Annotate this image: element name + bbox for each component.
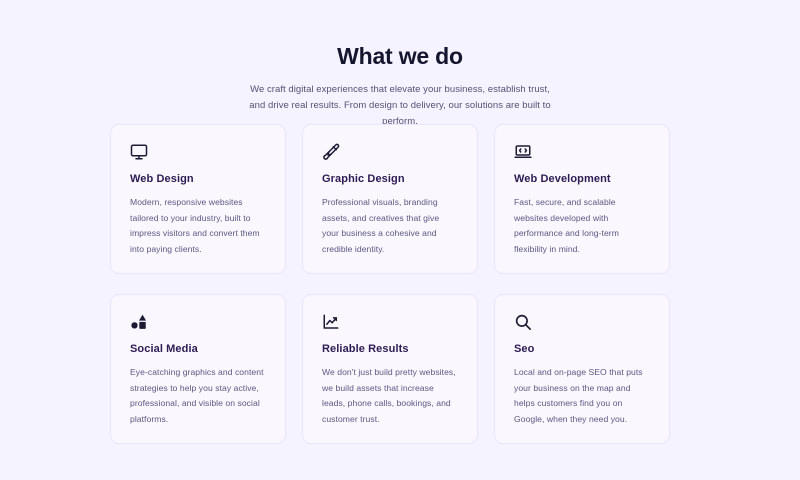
services-grid: Web Design Modern, responsive websites t… <box>110 124 670 444</box>
card-description: Modern, responsive websites tailored to … <box>130 195 266 257</box>
card-title: Social Media <box>130 342 266 356</box>
card-title: Seo <box>514 342 650 356</box>
paintbrush-icon <box>322 143 340 161</box>
laptop-code-icon <box>514 143 532 161</box>
page-title: What we do <box>0 42 800 70</box>
card-description: Fast, secure, and scalable websites deve… <box>514 195 650 257</box>
card-description: Local and on-page SEO that puts your bus… <box>514 365 650 427</box>
card-title: Web Design <box>130 172 266 186</box>
card-title: Graphic Design <box>322 172 458 186</box>
service-card-web-development[interactable]: Web Development Fast, secure, and scalab… <box>494 124 670 274</box>
service-card-reliable-results[interactable]: Reliable Results We don't just build pre… <box>302 294 478 444</box>
card-description: Professional visuals, branding assets, a… <box>322 195 458 257</box>
line-chart-icon <box>322 313 340 331</box>
section-header: What we do We craft digital experiences … <box>0 0 800 130</box>
service-card-web-design[interactable]: Web Design Modern, responsive websites t… <box>110 124 286 274</box>
shapes-icon <box>130 313 148 331</box>
card-description: We don't just build pretty websites, we … <box>322 365 458 427</box>
monitor-icon <box>130 143 148 161</box>
service-card-social-media[interactable]: Social Media Eye-catching graphics and c… <box>110 294 286 444</box>
services-page: What we do We craft digital experiences … <box>0 0 800 480</box>
card-title: Reliable Results <box>322 342 458 356</box>
search-icon <box>514 313 532 331</box>
card-title: Web Development <box>514 172 650 186</box>
section-subtitle: We craft digital experiences that elevat… <box>241 82 559 130</box>
card-description: Eye-catching graphics and content strate… <box>130 365 266 427</box>
service-card-graphic-design[interactable]: Graphic Design Professional visuals, bra… <box>302 124 478 274</box>
service-card-seo[interactable]: Seo Local and on-page SEO that puts your… <box>494 294 670 444</box>
